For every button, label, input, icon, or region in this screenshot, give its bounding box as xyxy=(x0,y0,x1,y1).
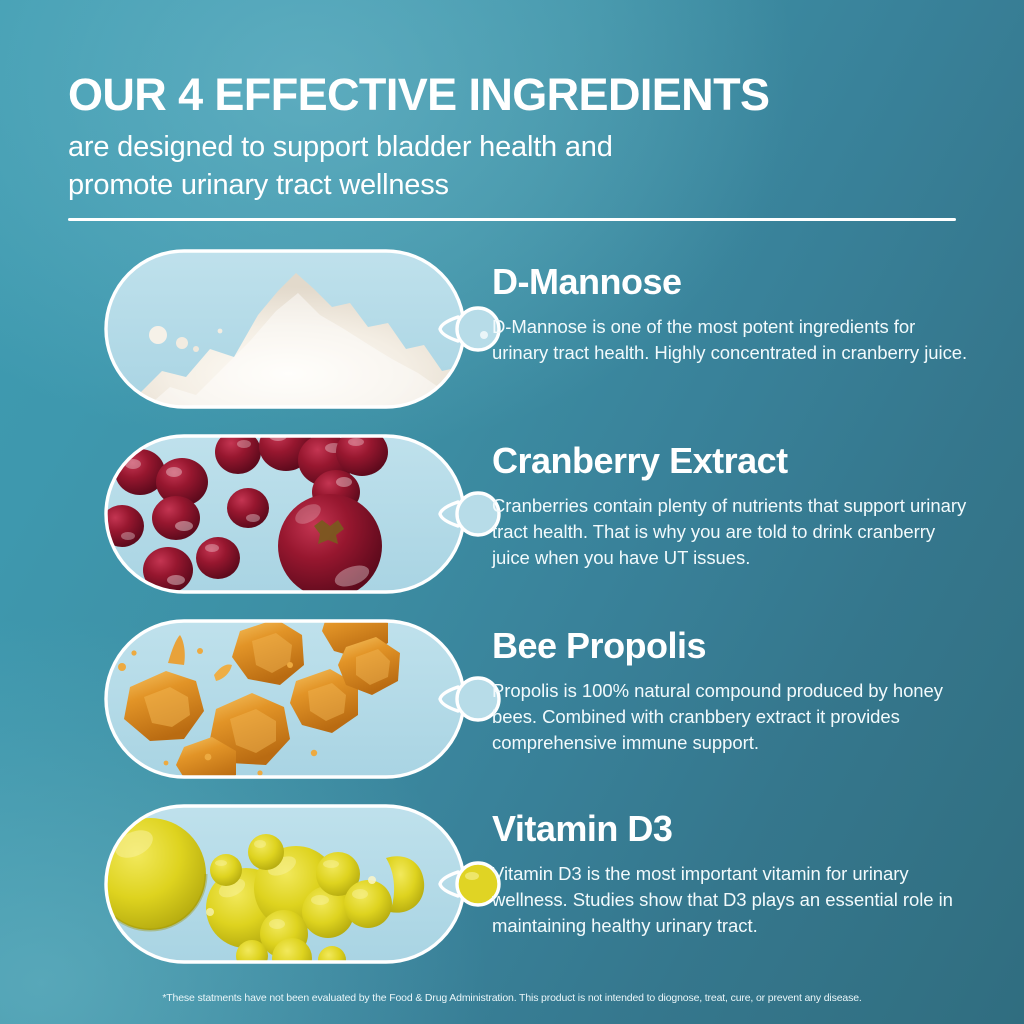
white-powder-capsule-image xyxy=(100,245,470,413)
ingredient-description: Cranberries contain plenty of nutrients … xyxy=(492,493,972,572)
ingredient-text-block: Vitamin D3 Vitamin D3 is the most import… xyxy=(492,810,972,940)
ingredient-description: Vitamin D3 is the most important vitamin… xyxy=(492,861,972,940)
subtitle-line-2: promote urinary tract wellness xyxy=(68,169,449,201)
ingredient-text-block: Cranberry Extract Cranberries contain pl… xyxy=(492,442,972,572)
cranberries-capsule-image xyxy=(100,430,470,598)
ingredient-description: D-Mannose is one of the most potent ingr… xyxy=(492,314,972,367)
page-title: OUR 4 EFFECTIVE INGREDIENTS xyxy=(68,72,968,117)
page-subtitle: are designed to support bladder health a… xyxy=(68,129,968,204)
honeycomb-capsule-image xyxy=(100,615,470,783)
footer-disclaimer: *These statments have not been evaluated… xyxy=(0,992,1024,1004)
ingredient-description: Propolis is 100% natural compound produc… xyxy=(492,678,972,757)
ingredient-name: D-Mannose xyxy=(492,263,972,301)
ingredient-text-block: D-Mannose D-Mannose is one of the most p… xyxy=(492,263,972,366)
ingredient-name: Bee Propolis xyxy=(492,627,972,665)
header-divider xyxy=(68,218,956,221)
ingredient-text-block: Bee Propolis Propolis is 100% natural co… xyxy=(492,627,972,757)
ingredient-name: Vitamin D3 xyxy=(492,810,972,848)
oil-droplets-capsule-image xyxy=(100,800,470,968)
ingredient-name: Cranberry Extract xyxy=(492,442,972,480)
subtitle-line-1: are designed to support bladder health a… xyxy=(68,131,613,163)
header-block: OUR 4 EFFECTIVE INGREDIENTS are designed… xyxy=(68,72,968,204)
infographic-poster: OUR 4 EFFECTIVE INGREDIENTS are designed… xyxy=(0,0,1024,1024)
